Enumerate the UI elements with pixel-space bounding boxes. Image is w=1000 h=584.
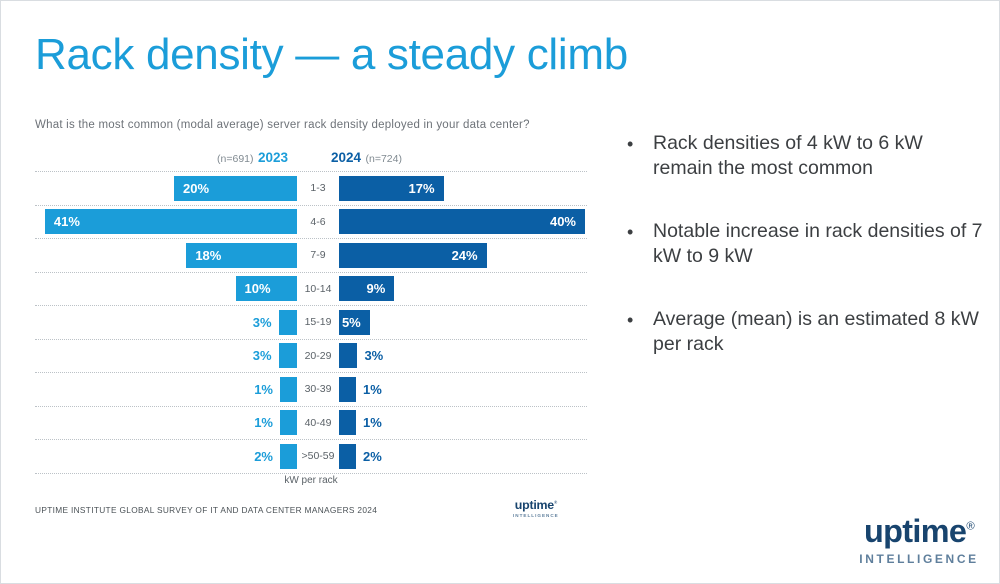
- category-label: 40-49: [305, 417, 332, 429]
- bar-value-label-2023: 41%: [45, 214, 89, 229]
- bar-value-label-2024: 1%: [356, 382, 389, 397]
- bar-2023: [280, 444, 297, 469]
- bar-cell-2024: 9%: [339, 273, 587, 306]
- bullet-item: •Rack densities of 4 kW to 6 kW remain t…: [627, 131, 987, 181]
- bullet-dot-icon: •: [627, 219, 653, 269]
- bar-value-label-2023: 1%: [247, 382, 280, 397]
- chart-row: 3%20-293%: [35, 340, 587, 374]
- chart-row: 20%1-317%: [35, 172, 587, 206]
- intelligence-wordmark: INTELLIGENCE: [860, 553, 979, 565]
- bar-cell-2024: 24%: [339, 239, 587, 272]
- bullet-item: •Average (mean) is an estimated 8 kW per…: [627, 307, 987, 357]
- uptime-intelligence-logo: uptime® INTELLIGENCE: [860, 516, 979, 565]
- bar-cell-2023: 20%: [35, 172, 297, 205]
- category-cell: 40-49: [297, 407, 339, 440]
- chart-row: 1%30-391%: [35, 373, 587, 407]
- category-label: 15-19: [305, 316, 332, 328]
- bar-2024: 24%: [339, 243, 487, 268]
- uptime-wordmark: uptime®: [860, 516, 979, 548]
- category-cell: 7-9: [297, 239, 339, 272]
- chart-rows: 20%1-317%41%4-640%18%7-924%10%10-149%3%1…: [35, 172, 587, 474]
- bar-value-label-2023: 18%: [186, 248, 230, 263]
- bullet-item: •Notable increase in rack densities of 7…: [627, 219, 987, 269]
- bar-cell-2023: 1%: [35, 373, 297, 406]
- bar-2024: [339, 377, 356, 402]
- bar-value-label-2024: 2%: [356, 449, 389, 464]
- bar-value-label-2024: 3%: [357, 348, 390, 363]
- category-label: 20-29: [305, 350, 332, 362]
- page-title: Rack density — a steady climb: [35, 27, 628, 83]
- chart-row: 18%7-924%: [35, 239, 587, 273]
- uptime-word-text-chart: uptime: [515, 498, 554, 512]
- bar-cell-2024: 2%: [339, 440, 587, 473]
- bar-2024: 9%: [339, 276, 394, 301]
- bar-2023: [279, 310, 297, 335]
- legend-item-2023: (n=691) 2023: [217, 149, 288, 167]
- category-cell: 4-6: [297, 206, 339, 239]
- bar-value-label-2023: 20%: [174, 181, 218, 196]
- chart-row: 10%10-149%: [35, 273, 587, 307]
- registered-mark-icon: ®: [967, 521, 975, 532]
- bullet-dot-icon: •: [627, 307, 653, 357]
- bar-cell-2023: 18%: [35, 239, 297, 272]
- bar-value-label-2023: 1%: [247, 415, 280, 430]
- bar-value-label-2024: 1%: [356, 415, 389, 430]
- bar-cell-2023: 10%: [35, 273, 297, 306]
- intelligence-wordmark-chart: INTELLIGENCE: [513, 513, 559, 518]
- bar-2023: 41%: [45, 209, 297, 234]
- bar-cell-2024: 40%: [339, 206, 587, 239]
- bar-value-label-2023: 2%: [247, 449, 280, 464]
- category-label: 30-39: [305, 383, 332, 395]
- bullet-text: Notable increase in rack densities of 7 …: [653, 219, 987, 269]
- legend-2023-year: 2023: [258, 150, 288, 165]
- bar-value-label-2024: 40%: [541, 214, 585, 229]
- bar-2023: 20%: [174, 176, 297, 201]
- uptime-intelligence-logo-chart: uptime® INTELLIGENCE: [513, 499, 559, 518]
- legend-2024-n: (n=724): [366, 153, 402, 165]
- chart-row: 2%>50-592%: [35, 440, 587, 474]
- legend-2023-n: (n=691): [217, 153, 253, 165]
- bar-cell-2023: 2%: [35, 440, 297, 473]
- bar-2024: [339, 444, 356, 469]
- slide: Rack density — a steady climb What is th…: [0, 0, 1000, 584]
- bar-value-label-2023: 3%: [246, 315, 279, 330]
- bullet-dot-icon: •: [627, 131, 653, 181]
- category-label: 10-14: [305, 283, 332, 295]
- chart-footer: UPTIME INSTITUTE GLOBAL SURVEY OF IT AND…: [35, 497, 587, 527]
- category-cell: >50-59: [297, 440, 339, 473]
- bullet-text: Average (mean) is an estimated 8 kW per …: [653, 307, 987, 357]
- category-cell: 30-39: [297, 373, 339, 406]
- category-label: >50-59: [302, 450, 335, 462]
- bar-cell-2024: 1%: [339, 373, 587, 406]
- bullet-list: •Rack densities of 4 kW to 6 kW remain t…: [627, 131, 987, 395]
- bar-cell-2024: 1%: [339, 407, 587, 440]
- bar-cell-2024: 17%: [339, 172, 587, 205]
- legend-2024-year: 2024: [331, 150, 361, 165]
- bar-2023: [279, 343, 297, 368]
- bar-2024: 5%: [339, 310, 370, 335]
- bullet-text: Rack densities of 4 kW to 6 kW remain th…: [653, 131, 987, 181]
- bar-value-label-2023: 3%: [246, 348, 279, 363]
- category-cell: 20-29: [297, 340, 339, 373]
- legend-item-2024: 2024 (n=724): [331, 149, 402, 167]
- bar-cell-2023: 1%: [35, 407, 297, 440]
- bar-2024: [339, 343, 357, 368]
- uptime-wordmark-chart: uptime®: [513, 499, 559, 511]
- chart-plot: 20%1-317%41%4-640%18%7-924%10%10-149%3%1…: [35, 171, 587, 474]
- bar-value-label-2024: 17%: [400, 181, 444, 196]
- category-label: 7-9: [310, 249, 325, 261]
- bar-value-label-2024: 9%: [358, 281, 395, 296]
- bar-value-label-2024: 24%: [443, 248, 487, 263]
- bar-value-label-2024: 5%: [333, 315, 370, 330]
- chart-row: 1%40-491%: [35, 407, 587, 441]
- chart-panel: What is the most common (modal average) …: [35, 119, 587, 527]
- bar-2023: 18%: [186, 243, 297, 268]
- bar-cell-2023: 3%: [35, 306, 297, 339]
- bar-2023: [280, 410, 297, 435]
- bar-cell-2024: 5%: [339, 306, 587, 339]
- bar-value-label-2023: 10%: [236, 281, 280, 296]
- chart-question: What is the most common (modal average) …: [35, 119, 530, 131]
- category-cell: 10-14: [297, 273, 339, 306]
- source-note: UPTIME INSTITUTE GLOBAL SURVEY OF IT AND…: [35, 505, 377, 515]
- category-label: 4-6: [310, 216, 325, 228]
- bar-2023: 10%: [236, 276, 298, 301]
- bar-2024: 40%: [339, 209, 585, 234]
- bar-2024: [339, 410, 356, 435]
- chart-legend: (n=691) 2023 2024 (n=724): [35, 149, 587, 167]
- bar-2024: 17%: [339, 176, 444, 201]
- chart-row: 41%4-640%: [35, 206, 587, 240]
- category-cell: 1-3: [297, 172, 339, 205]
- bar-2023: [280, 377, 297, 402]
- axis-caption: kW per rack: [35, 475, 587, 486]
- bar-cell-2024: 3%: [339, 340, 587, 373]
- bar-cell-2023: 41%: [35, 206, 297, 239]
- axis-caption-label: kW per rack: [278, 475, 343, 486]
- category-label: 1-3: [310, 182, 325, 194]
- uptime-word-text: uptime: [864, 514, 966, 550]
- chart-row: 3%15-195%: [35, 306, 587, 340]
- bar-cell-2023: 3%: [35, 340, 297, 373]
- registered-mark-icon-chart: ®: [554, 501, 557, 505]
